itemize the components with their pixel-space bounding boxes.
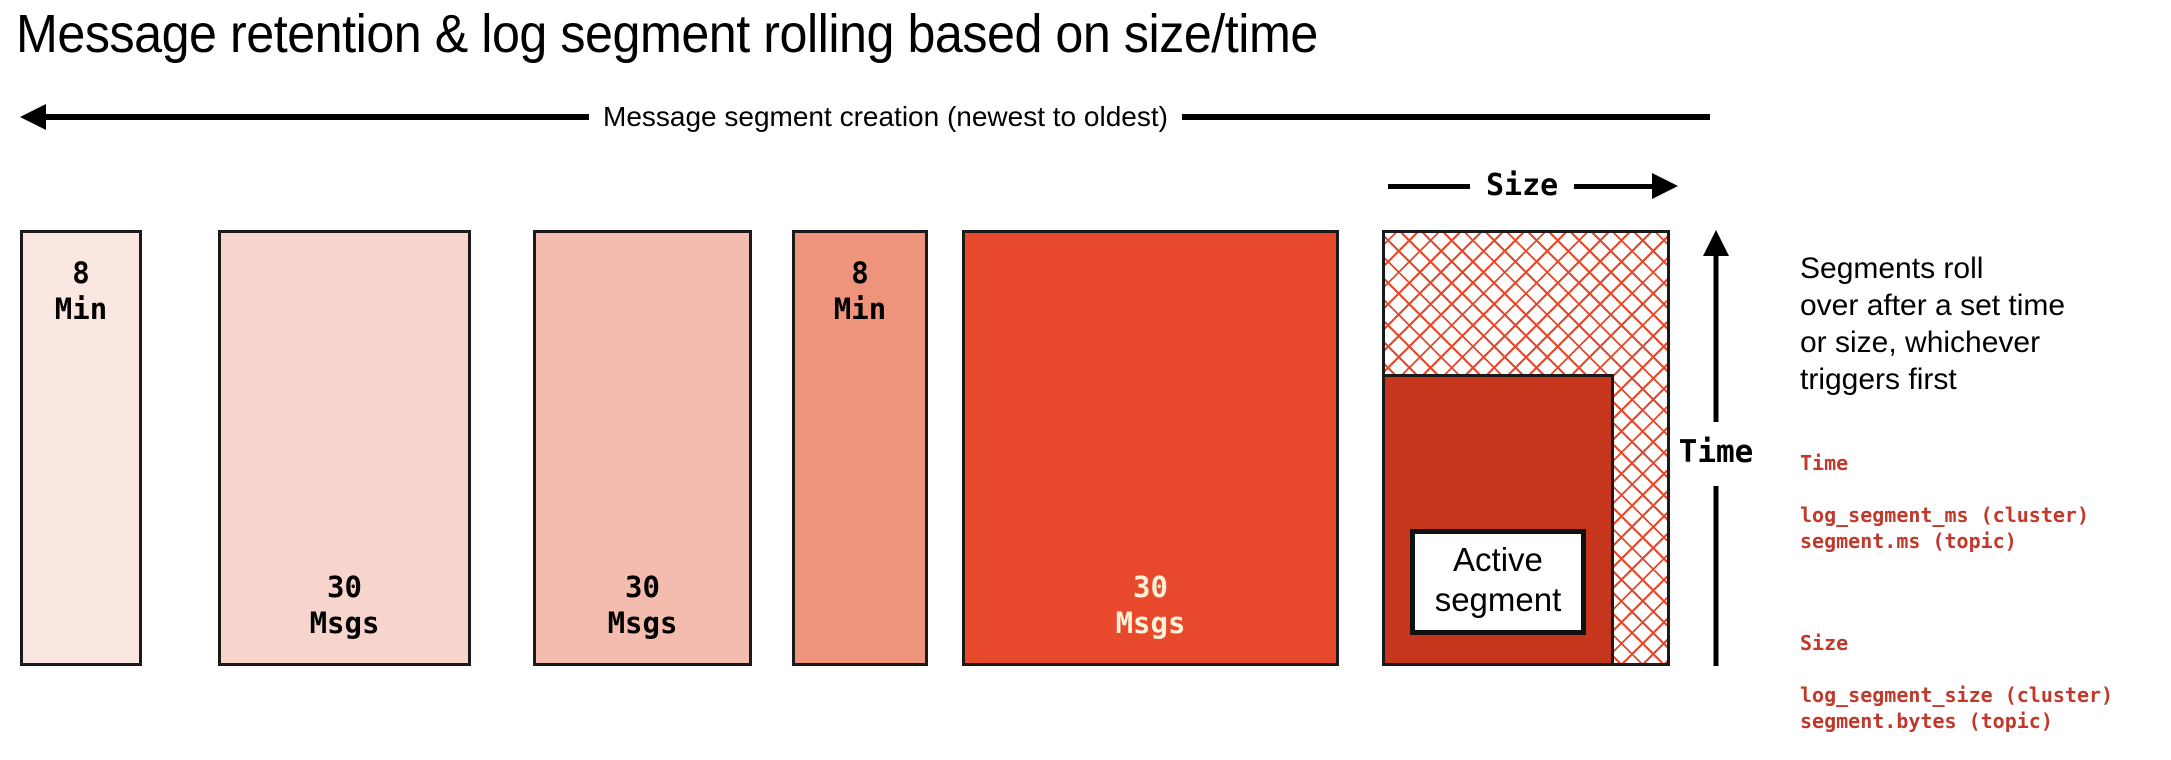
axis-line-left [44,114,589,120]
time-axis-label: Time [1677,435,1756,469]
diagram-canvas: Message retention & log segment rolling … [0,0,2171,674]
size-axis-label: Size [1470,170,1574,202]
page-title: Message retention & log segment rolling … [16,4,1318,64]
config-group-time: Time log_segment_ms (cluster) segment.ms… [1800,424,2160,580]
config-group-size-settings: log_segment_size (cluster) segment.bytes… [1800,682,2160,734]
config-group-time-heading: Time [1800,450,2160,476]
size-line-right [1574,184,1654,189]
segment-bar-2-label: 30 Msgs [310,569,380,663]
active-segment-callout: Active segment [1410,529,1587,635]
notes-panel: Segments roll over after a set time or s… [1800,250,2160,760]
segment-bar-3-label: 30 Msgs [608,569,678,663]
creation-direction-axis: Message segment creation (newest to olde… [20,100,1710,134]
active-segment-fill: Active segment [1382,374,1614,666]
notes-description: Segments roll over after a set time or s… [1800,250,2160,398]
time-axis: Time [1690,230,1742,666]
segment-bar-1-label: 8 Min [55,233,107,327]
creation-axis-label: Message segment creation (newest to olde… [589,102,1182,132]
segment-bar-1: 8 Min [20,230,142,666]
size-direction-axis: Size [1388,168,1678,204]
segment-bar-5: 30 Msgs [962,230,1339,666]
config-group-time-settings: log_segment_ms (cluster) segment.ms (top… [1800,502,2160,554]
segment-bar-4: 8 Min [792,230,928,666]
config-group-size-heading: Size [1800,630,2160,656]
active-segment-group: Active segment [1382,230,1670,666]
config-group-size: Size log_segment_size (cluster) segment.… [1800,604,2160,760]
axis-line-right [1182,114,1710,120]
segment-bar-5-label: 30 Msgs [1116,569,1186,663]
size-line-left [1388,184,1470,189]
time-axis-line-upper [1714,250,1719,422]
segment-bar-4-label: 8 Min [834,233,886,327]
arrow-left-icon [20,104,46,130]
time-axis-line-lower [1714,486,1719,666]
segment-bar-3: 30 Msgs [533,230,752,666]
arrow-right-icon [1652,173,1678,199]
segment-bar-2: 30 Msgs [218,230,471,666]
